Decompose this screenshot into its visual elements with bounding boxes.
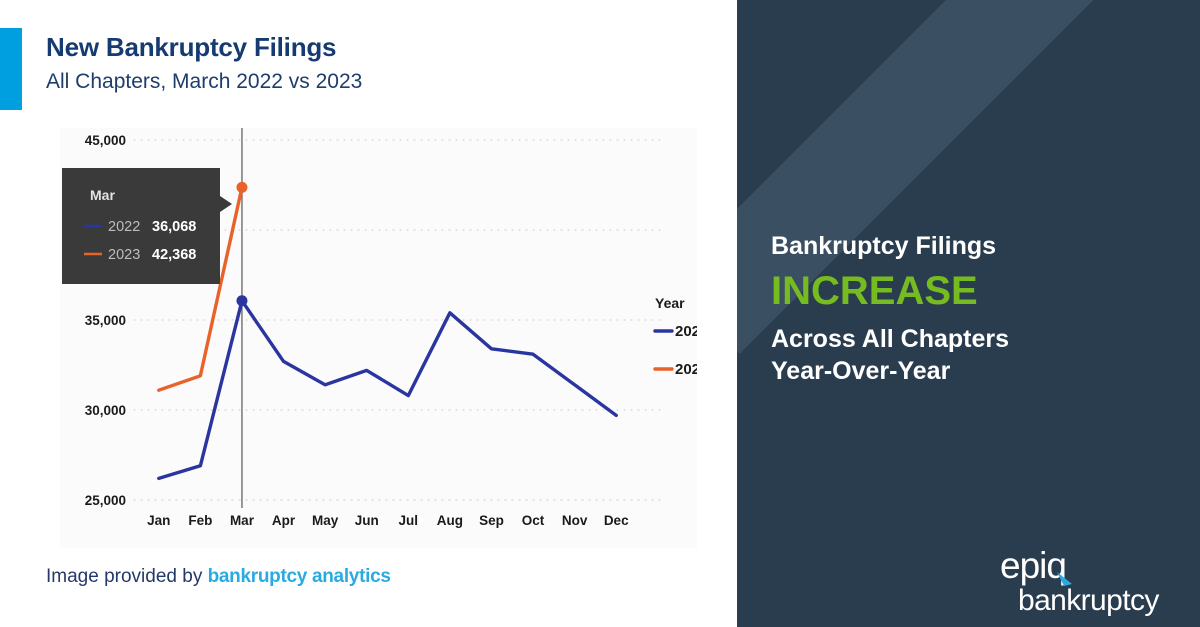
- svg-text:2022: 2022: [108, 219, 140, 235]
- right-panel-line-1: Bankruptcy Filings: [771, 230, 1191, 262]
- page-subtitle: All Chapters, March 2022 vs 2023: [46, 70, 362, 94]
- svg-text:Jul: Jul: [399, 513, 419, 528]
- svg-text:Sep: Sep: [479, 513, 504, 528]
- epiq-bankruptcy-logo: epiq bankruptcy: [992, 546, 1182, 618]
- right-panel-line-4: Year-Over-Year: [771, 355, 1191, 387]
- accent-bar: [0, 28, 22, 110]
- svg-text:2023: 2023: [108, 247, 140, 263]
- svg-text:Mar: Mar: [90, 187, 115, 203]
- svg-text:Nov: Nov: [562, 513, 588, 528]
- svg-text:Dec: Dec: [604, 513, 629, 528]
- line-chart: 25,00030,00035,00040,00045,000 JanFebMar…: [60, 128, 697, 548]
- page-title: New Bankruptcy Filings: [46, 33, 362, 63]
- svg-text:2022: 2022: [675, 323, 697, 340]
- svg-text:Jan: Jan: [147, 513, 170, 528]
- svg-text:Feb: Feb: [188, 513, 212, 528]
- right-panel-text: Bankruptcy Filings INCREASE Across All C…: [771, 230, 1191, 387]
- logo-epiq-text: epiq: [1000, 546, 1066, 586]
- chart-tooltip: Mar202236,068202342,368: [62, 168, 232, 284]
- right-panel-highlight: INCREASE: [771, 265, 1191, 317]
- svg-text:Jun: Jun: [355, 513, 379, 528]
- svg-text:2023: 2023: [675, 361, 697, 378]
- svg-text:30,000: 30,000: [85, 403, 126, 418]
- svg-text:42,368: 42,368: [152, 247, 196, 263]
- title-block: New Bankruptcy Filings All Chapters, Mar…: [46, 33, 362, 94]
- left-content-pane: New Bankruptcy Filings All Chapters, Mar…: [0, 0, 737, 627]
- svg-text:25,000: 25,000: [85, 493, 126, 508]
- footer-credit-brand: bankruptcy analytics: [208, 566, 391, 587]
- svg-text:Year: Year: [655, 295, 685, 311]
- chart-legend[interactable]: Year20222023: [655, 295, 697, 378]
- svg-text:35,000: 35,000: [85, 313, 126, 328]
- chart-series-lines: [159, 187, 616, 478]
- chart-container: 25,00030,00035,00040,00045,000 JanFebMar…: [60, 128, 697, 548]
- svg-text:45,000: 45,000: [85, 133, 126, 148]
- svg-text:May: May: [312, 513, 339, 528]
- footer-credit-prefix: Image provided by: [46, 566, 208, 587]
- right-message-pane: Bankruptcy Filings INCREASE Across All C…: [737, 0, 1200, 627]
- svg-text:Oct: Oct: [522, 513, 545, 528]
- svg-text:Aug: Aug: [437, 513, 463, 528]
- svg-text:Mar: Mar: [230, 513, 255, 528]
- logo-bankruptcy-text: bankruptcy: [1018, 584, 1159, 617]
- footer-credit: Image provided by bankruptcy analytics: [46, 566, 391, 588]
- svg-text:36,068: 36,068: [152, 219, 196, 235]
- x-axis-tick-labels: JanFebMarAprMayJunJulAugSepOctNovDec: [147, 513, 629, 528]
- right-panel-line-3: Across All Chapters: [771, 323, 1191, 355]
- svg-text:Apr: Apr: [272, 513, 296, 528]
